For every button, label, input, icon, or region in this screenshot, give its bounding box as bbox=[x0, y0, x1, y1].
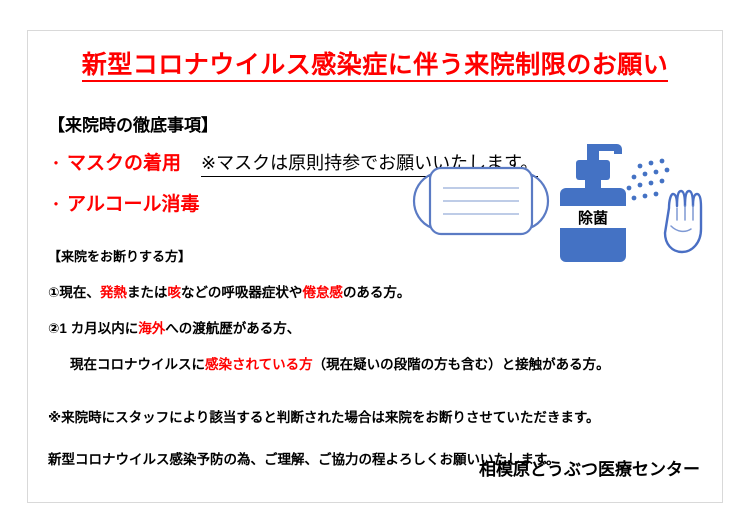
bullet-label-sanitize: アルコール消毒 bbox=[67, 189, 199, 216]
refusal-seg: のある方。 bbox=[343, 285, 411, 300]
hand-sanitizer-icon: 除菌 bbox=[560, 144, 626, 262]
refusal-seg: などの呼吸器症状や bbox=[181, 285, 303, 300]
refusal-seg-highlight: 倦怠感 bbox=[302, 285, 343, 300]
surgical-mask-icon bbox=[414, 168, 548, 234]
refusal-item-2-continued: 現在コロナウイルスに感染されている方（現在疑いの段階の方も含む）と接触がある方。 bbox=[48, 353, 610, 373]
refusal-seg: または bbox=[127, 285, 168, 300]
refusal-seg: 現在コロナウイルスに bbox=[70, 357, 205, 372]
thorough-items-heading: 【来院時の徹底事項】 bbox=[48, 111, 538, 136]
refusal-seg-highlight: 海外 bbox=[138, 321, 165, 336]
open-hand-icon bbox=[665, 191, 701, 252]
refusal-seg-highlight: 咳 bbox=[167, 285, 181, 300]
notice-document-frame: 新型コロナウイルス感染症に伴う来院制限のお願い 【来院時の徹底事項】 ・ マスク… bbox=[27, 30, 723, 503]
refusal-section: 【来院をお断りする方】 ①現在、発熱または咳などの呼吸器症状や倦怠感のある方。 … bbox=[48, 246, 610, 373]
spray-dots-icon bbox=[627, 159, 670, 201]
bullet-marker-icon: ・ bbox=[48, 157, 64, 173]
refusal-item-2: ②1 カ月以内に海外への渡航歴がある方、 bbox=[48, 317, 610, 337]
page-title-text: 新型コロナウイルス感染症に伴う来院制限のお願い bbox=[82, 51, 669, 82]
bullet-marker-icon: ・ bbox=[48, 198, 64, 214]
sanitizer-label: 除菌 bbox=[578, 209, 608, 227]
refusal-seg: ①現在、 bbox=[48, 285, 100, 300]
refusal-item-1: ①現在、発熱または咳などの呼吸器症状や倦怠感のある方。 bbox=[48, 281, 610, 301]
refusal-seg-highlight: 発熱 bbox=[100, 285, 127, 300]
refusal-seg: への渡航歴がある方、 bbox=[165, 321, 300, 336]
page-title: 新型コロナウイルス感染症に伴う来院制限のお願い bbox=[28, 45, 722, 81]
clinic-signature: 相模原どうぶつ医療センター bbox=[479, 455, 700, 480]
refusal-section-heading: 【来院をお断りする方】 bbox=[48, 246, 610, 265]
refusal-seg-highlight: 感染されている方 bbox=[205, 357, 313, 372]
refusal-seg: ②1 カ月以内に bbox=[48, 321, 138, 336]
footer-note-staff-judgement: ※来院時にスタッフにより該当すると判断された場合は来院をお断りさせていただきます… bbox=[48, 406, 600, 426]
bullet-label-mask: マスクの着用 bbox=[67, 148, 181, 175]
refusal-seg: （現在疑いの段階の方も含む）と接触がある方。 bbox=[313, 357, 610, 372]
